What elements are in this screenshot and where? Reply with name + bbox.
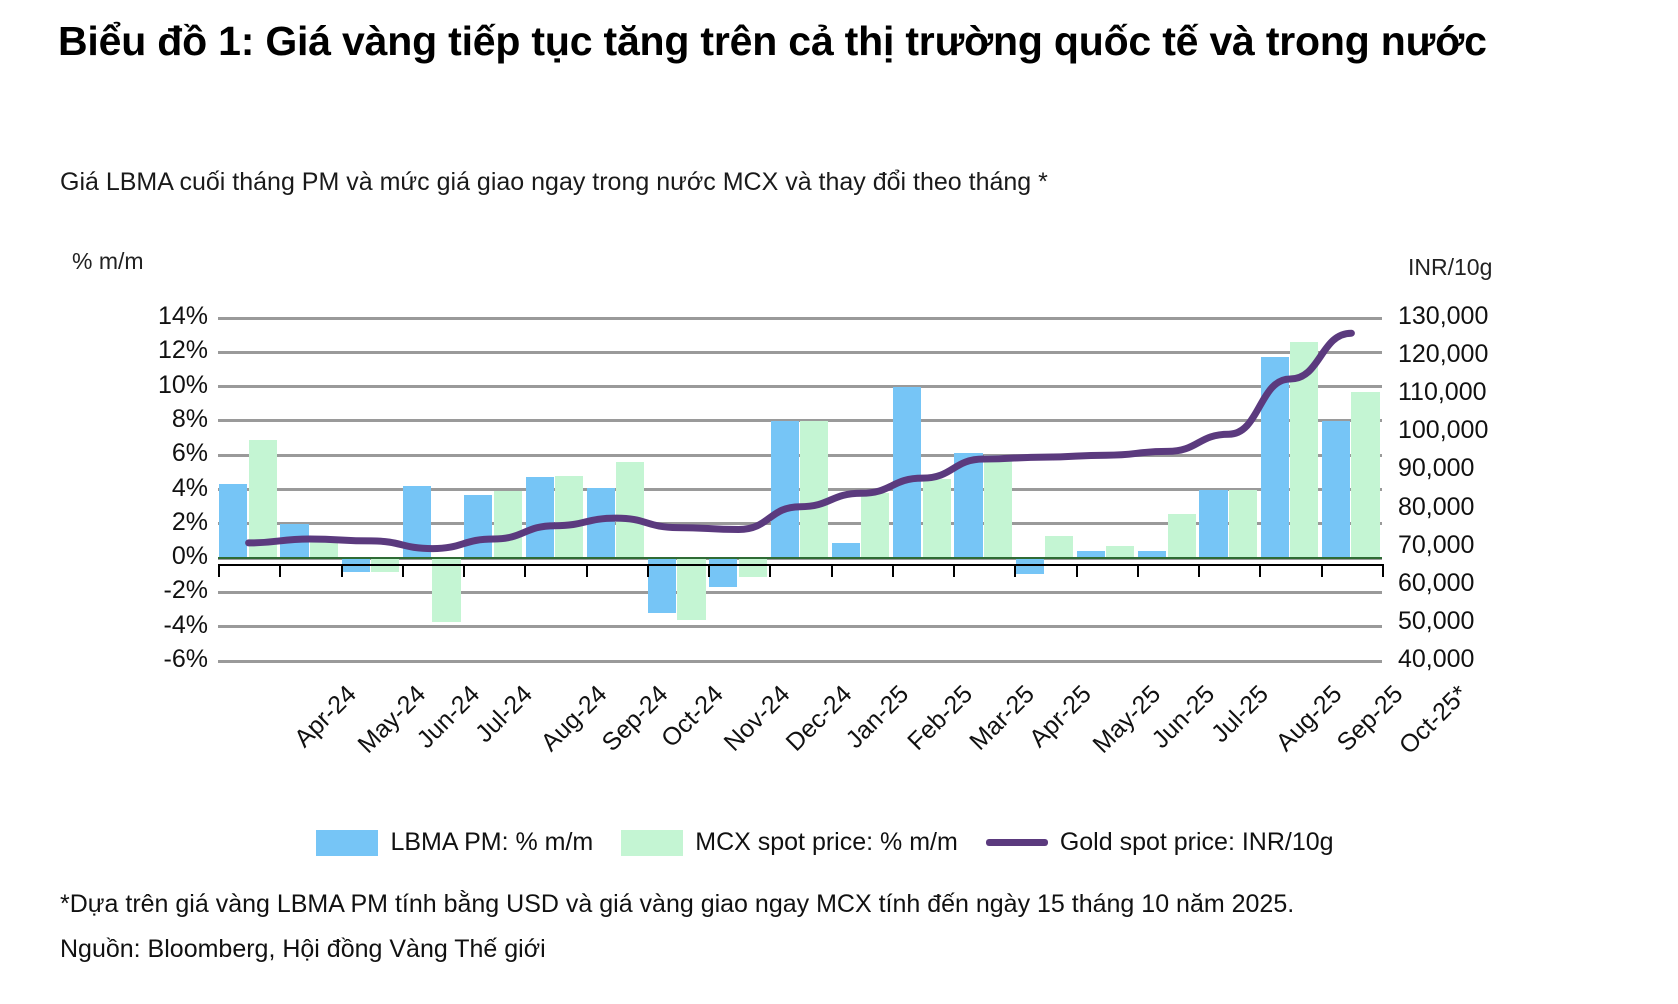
bar-group[interactable] — [892, 318, 953, 661]
x-axis-tick-label: Sep-25 — [1332, 680, 1410, 758]
bar[interactable] — [494, 491, 522, 558]
bar-group[interactable] — [1198, 318, 1259, 661]
x-axis-tick-label: May-25 — [1087, 680, 1166, 759]
page-subtitle: Giá LBMA cuối tháng PM và mức giá giao n… — [60, 168, 1560, 197]
bar[interactable] — [526, 477, 554, 558]
x-axis-tick-label: Sep-24 — [597, 680, 675, 758]
bar-group[interactable] — [524, 318, 585, 661]
left-axis-tick-label: -2% — [164, 576, 208, 605]
legend-item[interactable]: Gold spot price: INR/10g — [986, 828, 1334, 857]
x-axis-tick — [1137, 564, 1139, 577]
legend-item[interactable]: MCX spot price: % m/m — [621, 828, 958, 857]
x-axis-tick — [279, 564, 281, 577]
right-axis-tick-label: 90,000 — [1398, 454, 1474, 483]
right-axis-tick-label: 120,000 — [1398, 340, 1488, 369]
bar[interactable] — [249, 440, 277, 558]
x-axis-tick-label: Oct-25* — [1394, 680, 1474, 760]
x-axis-tick-label: Aug-24 — [535, 680, 613, 758]
left-axis-tick-label: 8% — [172, 405, 208, 434]
legend-label: LBMA PM: % m/m — [390, 828, 593, 857]
bar[interactable] — [832, 543, 860, 558]
bar[interactable] — [280, 524, 308, 558]
bar[interactable] — [1261, 357, 1289, 558]
bar[interactable] — [1322, 421, 1350, 558]
left-axis-tick-label: -4% — [164, 611, 208, 640]
legend-swatch-icon — [316, 830, 378, 856]
x-axis-tick — [524, 564, 526, 577]
zero-line — [218, 557, 1382, 559]
bar-group[interactable] — [647, 318, 708, 661]
right-axis-tick-label: 60,000 — [1398, 569, 1474, 598]
bar-groups — [218, 318, 1382, 661]
bar-group[interactable] — [953, 318, 1014, 661]
x-axis-tick-label: Apr-24 — [289, 680, 363, 754]
x-axis-tick — [892, 564, 894, 577]
chart-legend: LBMA PM: % m/mMCX spot price: % m/mGold … — [0, 828, 1678, 857]
left-axis-tick-label: 10% — [158, 371, 208, 400]
footnote-source: Nguồn: Bloomberg, Hội đồng Vàng Thế giới — [60, 935, 1620, 964]
bar-group[interactable] — [586, 318, 647, 661]
x-axis-tick — [218, 564, 220, 577]
bar-group[interactable] — [1321, 318, 1382, 661]
bar[interactable] — [1290, 342, 1318, 558]
legend-swatch-icon — [621, 830, 683, 856]
bar[interactable] — [861, 493, 889, 558]
right-axis-tick-label: 80,000 — [1398, 493, 1474, 522]
bar[interactable] — [954, 453, 982, 558]
bar[interactable] — [432, 558, 460, 621]
bar[interactable] — [677, 558, 705, 620]
legend-label: MCX spot price: % m/m — [695, 828, 958, 857]
left-axis-tick-label: 0% — [172, 542, 208, 571]
bar[interactable] — [1351, 392, 1379, 558]
right-axis-tick-label: 100,000 — [1398, 416, 1488, 445]
x-axis-tick — [831, 564, 833, 577]
x-axis-tick — [1076, 564, 1078, 577]
bar[interactable] — [800, 421, 828, 558]
x-axis-tick — [1321, 564, 1323, 577]
bar[interactable] — [1229, 490, 1257, 559]
x-axis-line — [218, 564, 1382, 566]
chart-page: Biểu đồ 1: Giá vàng tiếp tục tăng trên c… — [0, 0, 1678, 1004]
bar[interactable] — [923, 479, 951, 558]
bar[interactable] — [587, 488, 615, 558]
x-axis-tick — [1014, 564, 1016, 577]
right-axis-tick-label: 50,000 — [1398, 607, 1474, 636]
bar[interactable] — [1199, 490, 1227, 559]
bar-group[interactable] — [769, 318, 830, 661]
right-axis-tick-labels: 130,000120,000110,000100,00090,00080,000… — [1398, 318, 1598, 661]
x-axis-tick — [586, 564, 588, 577]
right-axis-tick-label: 70,000 — [1398, 531, 1474, 560]
x-axis-tick-label: Apr-25 — [1024, 680, 1098, 754]
x-axis-tick-label: Feb-25 — [902, 680, 979, 757]
bar[interactable] — [464, 495, 492, 558]
x-axis-tick-labels: Apr-24May-24Jun-24Jul-24Aug-24Sep-24Oct-… — [218, 662, 1382, 792]
bar-group[interactable] — [1014, 318, 1075, 661]
x-axis-tick — [1259, 564, 1261, 577]
legend-label: Gold spot price: INR/10g — [1060, 828, 1334, 857]
left-axis-tick-labels: 14%12%10%8%6%4%2%0%-2%-4%-6% — [60, 318, 208, 661]
plot-area — [218, 318, 1382, 661]
x-axis-tick — [647, 564, 649, 577]
bar[interactable] — [219, 484, 247, 558]
page-title: Biểu đồ 1: Giá vàng tiếp tục tăng trên c… — [58, 14, 1558, 68]
bar-group[interactable] — [1259, 318, 1320, 661]
x-axis-tick — [341, 564, 343, 577]
bar-group[interactable] — [463, 318, 524, 661]
x-axis-tick — [769, 564, 771, 577]
bar[interactable] — [403, 486, 431, 558]
x-axis-tick — [1382, 564, 1384, 577]
x-axis-tick — [463, 564, 465, 577]
x-axis-tick-label: Jan-25 — [840, 680, 915, 755]
bar[interactable] — [739, 558, 767, 577]
bar-group[interactable] — [402, 318, 463, 661]
bar-group[interactable] — [831, 318, 892, 661]
left-axis-tick-label: 2% — [172, 508, 208, 537]
left-axis-tick-label: 6% — [172, 439, 208, 468]
x-axis-tick-label: Nov-24 — [719, 680, 796, 757]
footnote-note: *Dựa trên giá vàng LBMA PM tính bằng USD… — [60, 890, 1620, 919]
x-axis-tick-label: Mar-25 — [964, 680, 1041, 757]
bar[interactable] — [555, 476, 583, 558]
right-axis-tick-label: 40,000 — [1398, 645, 1474, 674]
legend-line-icon — [986, 839, 1048, 846]
bar[interactable] — [984, 455, 1012, 558]
bar[interactable] — [893, 387, 921, 559]
x-axis-tick-label: Dec-24 — [780, 680, 857, 757]
x-axis-tick-label: May-24 — [352, 680, 431, 759]
x-axis-tick — [708, 564, 710, 577]
x-axis-tick — [402, 564, 404, 577]
left-axis-tick-label: 14% — [158, 302, 208, 331]
x-axis-tick — [1198, 564, 1200, 577]
right-axis-unit-label: INR/10g — [1408, 254, 1492, 281]
x-axis-tick-label: Aug-25 — [1270, 680, 1348, 758]
bar-group[interactable] — [1076, 318, 1137, 661]
bar-group[interactable] — [218, 318, 279, 661]
bar-group[interactable] — [279, 318, 340, 661]
left-axis-tick-label: 12% — [158, 336, 208, 365]
bar[interactable] — [310, 539, 338, 558]
bar[interactable] — [771, 421, 799, 558]
bar[interactable] — [709, 558, 737, 587]
bar[interactable] — [1168, 514, 1196, 559]
left-axis-tick-label: -6% — [164, 645, 208, 674]
right-axis-tick-label: 110,000 — [1398, 378, 1487, 407]
bar-group[interactable] — [1137, 318, 1198, 661]
bar[interactable] — [648, 558, 676, 613]
bar[interactable] — [616, 462, 644, 558]
legend-item[interactable]: LBMA PM: % m/m — [316, 828, 593, 857]
left-axis-unit-label: % m/m — [72, 248, 144, 275]
x-axis-tick-label: Jul-24 — [470, 680, 539, 749]
right-axis-tick-label: 130,000 — [1398, 302, 1488, 331]
x-axis-tick-label: Jul-25 — [1206, 680, 1275, 749]
x-axis-tick-label: Oct-24 — [656, 680, 730, 754]
bar[interactable] — [1045, 536, 1073, 558]
x-axis-tick — [953, 564, 955, 577]
left-axis-tick-label: 4% — [172, 474, 208, 503]
bar-group[interactable] — [708, 318, 769, 661]
bar-group[interactable] — [341, 318, 402, 661]
